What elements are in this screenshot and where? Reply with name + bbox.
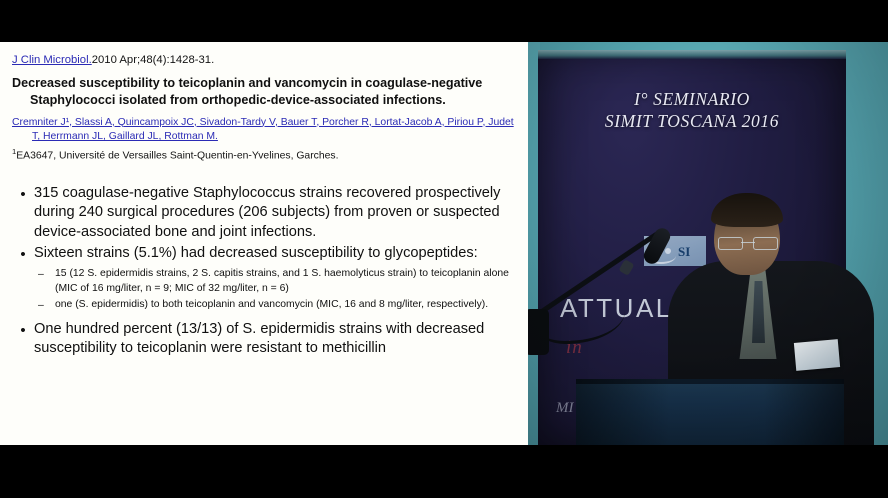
sub-bullet-text: one (S. epidermidis) to both teicoplanin…	[55, 298, 516, 313]
author-line-2[interactable]: T, Herrmann JL, Gaillard JL, Rottman M.	[12, 130, 516, 145]
bullet-text: One hundred percent (13/13) of S. epider…	[34, 320, 516, 359]
affiliation-line: 1EA3647, Université de Versailles Saint-…	[12, 147, 516, 164]
citation-line: J Clin Microbiol.2010 Apr;48(4):1428-31.	[12, 53, 516, 68]
sub-bullet-item: – 15 (12 S. epidermidis strains, 2 S. ca…	[12, 267, 516, 297]
sub-bullet-text: 15 (12 S. epidermidis strains, 2 S. capi…	[55, 267, 516, 297]
paper-title: Decreased susceptibility to teicoplanin …	[12, 75, 516, 109]
microphone-head	[641, 225, 673, 266]
paper-title-line-2: Staphylococci isolated from orthopedic-d…	[12, 92, 516, 109]
content-band: J Clin Microbiol.2010 Apr;48(4):1428-31.…	[0, 42, 888, 445]
speaker-name-badge	[794, 339, 840, 371]
author-list: Cremniter J¹, Slassi A, Quincampoix JC, …	[12, 116, 516, 146]
bullet-marker-icon: •	[12, 320, 34, 341]
bullet-item: • 315 coagulase-negative Staphylococcus …	[12, 184, 516, 243]
bullet-text: 315 coagulase-negative Staphylococcus st…	[34, 184, 516, 243]
microphone-cable	[539, 297, 625, 344]
podium-shading	[576, 379, 844, 445]
banner-bottom-text: MI	[556, 400, 574, 417]
journal-link[interactable]: J Clin Microbiol.	[12, 54, 92, 66]
slide-content: J Clin Microbiol.2010 Apr;48(4):1428-31.…	[0, 42, 528, 445]
speaker-glasses-icon	[718, 237, 778, 248]
slide-bullet-list: • 315 coagulase-negative Staphylococcus …	[12, 184, 516, 359]
bullet-marker-icon: •	[12, 244, 34, 265]
speaker-video-panel[interactable]: I° SEMINARIO SIMIT TOSCANA 2016 SI ATTUA…	[528, 42, 888, 445]
dash-marker-icon: –	[38, 267, 55, 283]
dash-marker-icon: –	[38, 298, 55, 314]
bullet-marker-icon: •	[12, 184, 34, 205]
podium	[576, 379, 844, 445]
microphone-stand	[533, 205, 683, 365]
sub-bullet-item: – one (S. epidermidis) to both teicoplan…	[12, 298, 516, 314]
microphone-base	[528, 309, 549, 355]
bullet-item: • Sixteen strains (5.1%) had decreased s…	[12, 244, 516, 265]
paper-title-line-1: Decreased susceptibility to teicoplanin …	[12, 76, 482, 90]
banner-rail	[538, 50, 846, 59]
bullet-item: • One hundred percent (13/13) of S. epid…	[12, 320, 516, 359]
bullet-text: Sixteen strains (5.1%) had decreased sus…	[34, 244, 516, 264]
microphone-clip	[618, 259, 634, 276]
video-player-stage: J Clin Microbiol.2010 Apr;48(4):1428-31.…	[0, 0, 888, 498]
letterbox-bar-top	[0, 0, 888, 42]
author-line-1[interactable]: Cremniter J¹, Slassi A, Quincampoix JC, …	[12, 117, 514, 128]
presentation-slide-panel[interactable]: J Clin Microbiol.2010 Apr;48(4):1428-31.…	[0, 42, 528, 445]
letterbox-bar-bottom	[0, 445, 888, 498]
speaker-hair	[711, 193, 783, 227]
affiliation-text: EA3647, Université de Versailles Saint-Q…	[16, 151, 338, 162]
citation-reference: 2010 Apr;48(4):1428-31.	[92, 54, 214, 66]
